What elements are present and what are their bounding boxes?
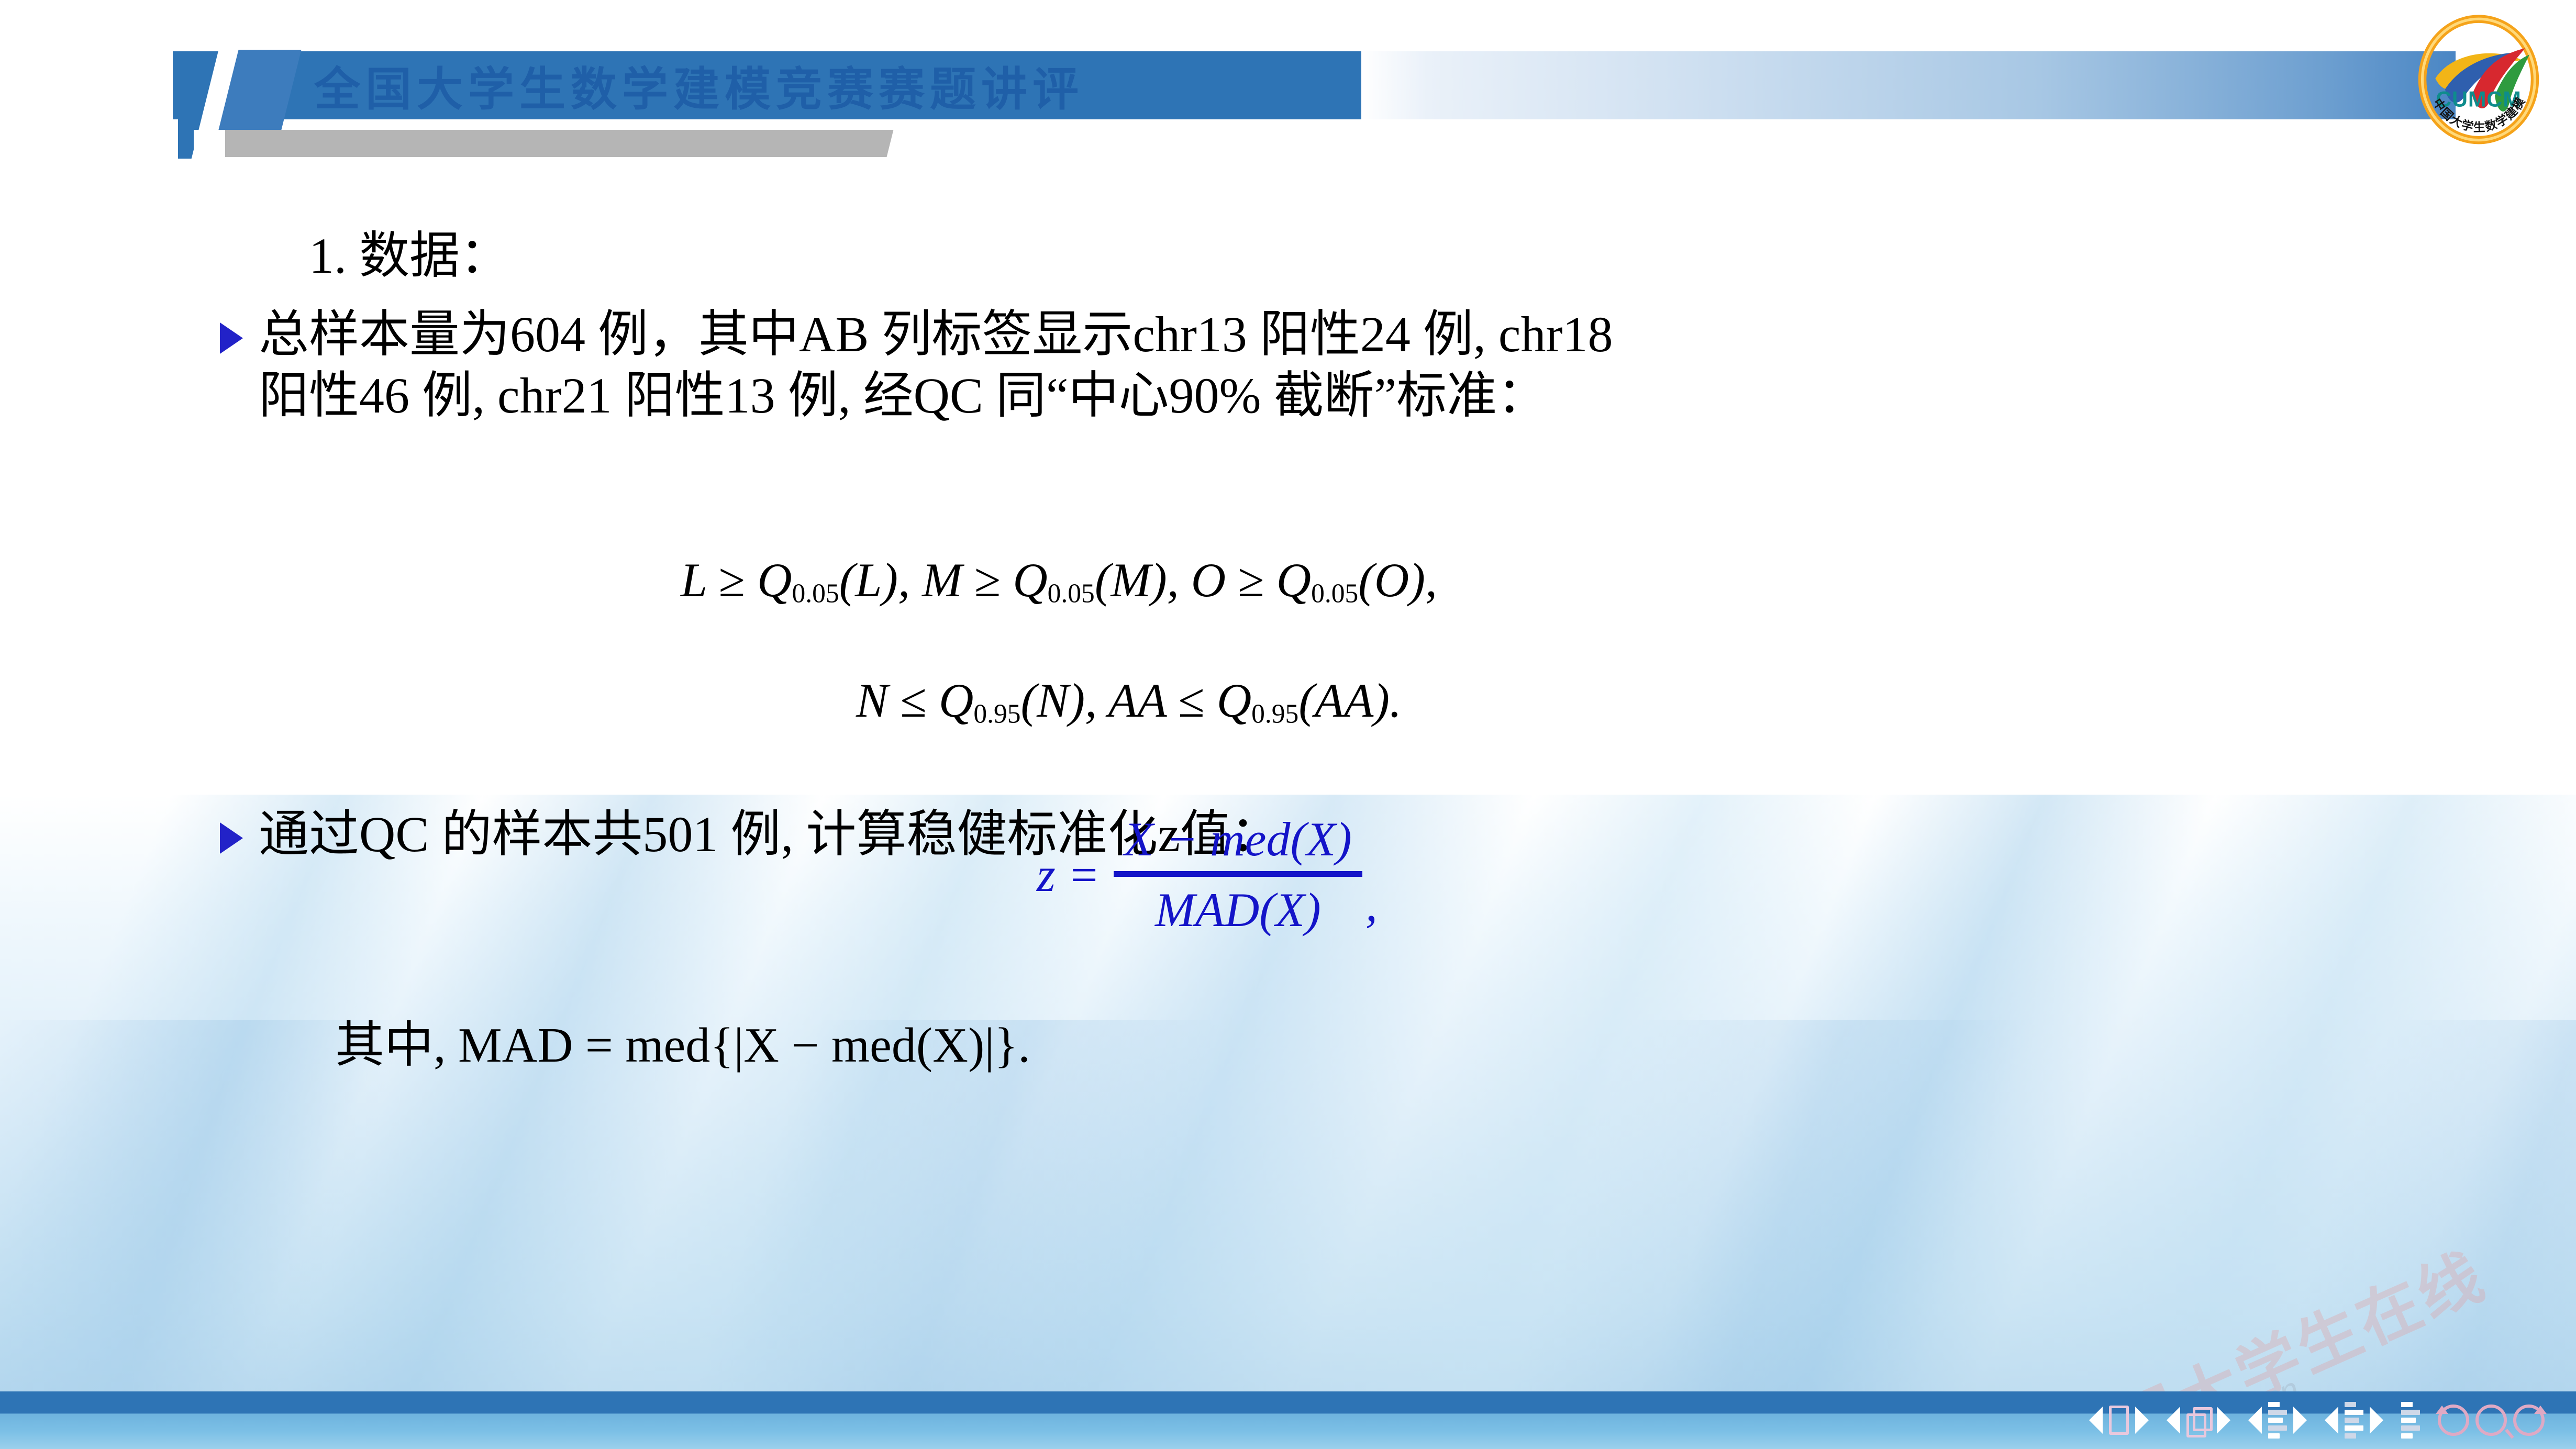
slide-header: 全国大学生数学建模竞赛赛题讲评 CUMCM 中国大学生数学建模竞赛 bbox=[0, 0, 2576, 157]
bars-icon[interactable] bbox=[2268, 1402, 2287, 1439]
fraction-denominator: MAD(X) bbox=[1145, 877, 1331, 938]
next-frame-icon[interactable] bbox=[2217, 1407, 2230, 1434]
fraction: X − med(X) MAD(X) bbox=[1114, 811, 1362, 938]
rotate-ccw-icon[interactable] bbox=[2438, 1405, 2469, 1436]
bullet-1-text: 总样本量为604 例，其中AB 列标签显示chr13 阳性24 例, chr18… bbox=[259, 304, 1613, 426]
section-heading: 1. 数据： bbox=[309, 215, 510, 287]
nav-group-toc bbox=[2401, 1402, 2420, 1439]
nav-group-history bbox=[2438, 1405, 2545, 1436]
equation-qc-line-2: N ≤ Q0.95(N), AA ≤ Q0.95(AA). bbox=[856, 673, 1402, 729]
page-title: 全国大学生数学建模竞赛赛题讲评 bbox=[314, 51, 1084, 119]
nav-group-frame bbox=[2167, 1407, 2230, 1434]
prev-slide-icon[interactable] bbox=[2089, 1407, 2103, 1434]
slide-footer bbox=[0, 1391, 2576, 1449]
cumcm-logo: CUMCM 中国大学生数学建模竞赛 bbox=[2414, 13, 2544, 150]
slide-body: 1. 数据： 总样本量为604 例，其中AB 列标签显示chr13 阳性24 例… bbox=[0, 157, 2576, 1377]
nav-group-subsection bbox=[2248, 1402, 2307, 1439]
fraction-bar bbox=[1114, 871, 1362, 877]
bars-icon[interactable] bbox=[2345, 1402, 2363, 1439]
prev-section-icon[interactable] bbox=[2325, 1407, 2338, 1434]
stacked-slides-icon[interactable] bbox=[2186, 1407, 2211, 1433]
nav-group-slide bbox=[2089, 1406, 2149, 1435]
beamer-navigation-bar bbox=[2089, 1391, 2545, 1449]
cumcm-logo-svg: CUMCM 中国大学生数学建模竞赛 bbox=[2414, 13, 2544, 150]
rotate-cw-icon[interactable] bbox=[2513, 1405, 2545, 1436]
header-grey-bar-cap bbox=[194, 130, 225, 157]
equation-qc-line-1: L ≥ Q0.05(L), M ≥ Q0.05(M), O ≥ Q0.05(O)… bbox=[681, 552, 1437, 609]
bullet-item-1: 总样本量为604 例，其中AB 列标签显示chr13 阳性24 例, chr18… bbox=[220, 304, 1613, 426]
triangle-bullet-icon bbox=[220, 322, 243, 354]
next-subsection-icon[interactable] bbox=[2293, 1407, 2307, 1434]
nav-group-section bbox=[2325, 1402, 2383, 1439]
prev-frame-icon[interactable] bbox=[2167, 1407, 2180, 1434]
closing-equation: 其中, MAD = med{|X − med(X)|}. bbox=[335, 1005, 1030, 1076]
bars-icon[interactable] bbox=[2401, 1402, 2420, 1439]
z-equals-label: z = bbox=[1037, 847, 1100, 902]
single-slide-icon[interactable] bbox=[2109, 1406, 2129, 1435]
next-slide-icon[interactable] bbox=[2135, 1407, 2149, 1434]
next-section-icon[interactable] bbox=[2370, 1407, 2383, 1434]
fraction-numerator: X − med(X) bbox=[1114, 811, 1362, 871]
header-white-cut bbox=[0, 119, 178, 159]
magnifier-icon[interactable] bbox=[2475, 1405, 2507, 1436]
prev-subsection-icon[interactable] bbox=[2248, 1407, 2262, 1434]
header-grey-bar bbox=[206, 130, 894, 157]
equation-z-score: z = X − med(X) MAD(X) , bbox=[1037, 811, 1378, 938]
slide-canvas: 全国大学生数学建模竞赛赛题讲评 CUMCM 中国大学生数学建模竞赛 1. 数据： bbox=[0, 0, 2576, 1449]
header-band-right-gradient bbox=[1361, 51, 2456, 119]
triangle-bullet-icon bbox=[220, 822, 243, 854]
fraction-trailing-comma: , bbox=[1365, 877, 1378, 932]
